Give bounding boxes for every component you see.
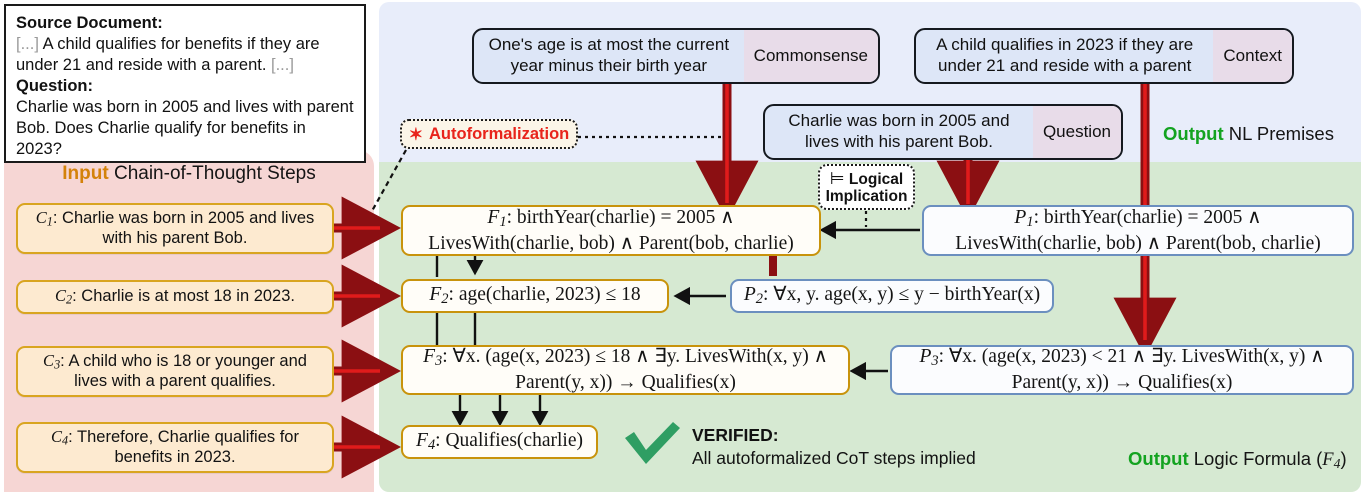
cot-step-1-text: C1: Charlie was born in 2005 and lives w… [27, 208, 323, 249]
output-nl-premises-label: Output NL Premises [1163, 123, 1334, 145]
source-document-text: [...] A child qualifies for benefits if … [16, 34, 355, 76]
cot-step-4[interactable]: C4: Therefore, Charlie qualifies for ben… [16, 422, 334, 473]
cot-step-3[interactable]: C3: A child who is 18 or younger and liv… [16, 346, 334, 397]
ellipsis-end: [...] [271, 56, 294, 74]
question-text: Charlie was born in 2005 and lives with … [16, 97, 355, 160]
input-panel-title-rest: Chain-of-Thought Steps [109, 163, 316, 184]
ellipsis-start: [...] [16, 35, 39, 53]
check-mark-icon [621, 421, 683, 467]
nl-premise-commonsense[interactable]: One's age is at most the currentyear min… [472, 28, 880, 84]
premise-P1[interactable]: P1: birthYear(charlie) = 2005 ∧LivesWith… [922, 205, 1354, 256]
logical-implication-line2: Implication [826, 188, 908, 205]
formula-F3[interactable]: F3: ∀x. (age(x, 2023) ≤ 18 ∧ ∃y. LivesWi… [401, 345, 850, 395]
formula-F2[interactable]: F2: age(charlie, 2023) ≤ 18 [401, 279, 669, 313]
verified-description: All autoformalized CoT steps implied [692, 448, 976, 468]
formula-F3-text: F3: ∀x. (age(x, 2023) ≤ 18 ∧ ∃y. LivesWi… [423, 345, 828, 395]
verified-label: VERIFIED: [692, 425, 779, 445]
formula-F1[interactable]: F1: birthYear(charlie) = 2005 ∧LivesWith… [401, 205, 821, 256]
autoformalization-annotation: ✶ Autoformalization [400, 119, 578, 149]
formula-F1-text: F1: birthYear(charlie) = 2005 ∧LivesWith… [428, 206, 793, 256]
source-document-box: Source Document: [...] A child qualifies… [4, 4, 366, 163]
nl-premise-context-tag: Context [1213, 30, 1292, 82]
nl-premise-context[interactable]: A child qualifies in 2023 if they areund… [914, 28, 1294, 84]
input-panel-title-bold: Input [62, 163, 108, 184]
autoformalization-label: Autoformalization [429, 125, 569, 144]
formula-F4-text: F4: Qualifies(charlie) [416, 429, 583, 455]
question-heading: Question: [16, 76, 355, 97]
nl-premise-commonsense-tag: Commonsense [744, 30, 878, 82]
cot-step-3-text: C3: A child who is 18 or younger and liv… [27, 351, 323, 392]
premise-P2[interactable]: P2: ∀x, y. age(x, y) ≤ y − birthYear(x) [730, 279, 1054, 313]
premise-P2-text: P2: ∀x, y. age(x, y) ≤ y − birthYear(x) [744, 283, 1040, 309]
nl-premise-question[interactable]: Charlie was born in 2005 andlives with h… [763, 104, 1123, 160]
logical-implication-line1: ⊨ Logical [830, 169, 903, 188]
nl-premise-context-text: A child qualifies in 2023 if they areund… [916, 30, 1213, 82]
source-document-heading: Source Document: [16, 13, 355, 34]
sparkle-icon: ✶ [409, 126, 423, 143]
premise-P3[interactable]: P3: ∀x. (age(x, 2023) < 21 ∧ ∃y. LivesWi… [890, 345, 1354, 395]
cot-step-2[interactable]: C2: Charlie is at most 18 in 2023. [16, 280, 334, 314]
cot-step-4-text: C4: Therefore, Charlie qualifies for ben… [27, 427, 323, 468]
cot-step-1[interactable]: C1: Charlie was born in 2005 and lives w… [16, 203, 334, 254]
nl-premise-commonsense-text: One's age is at most the currentyear min… [474, 30, 744, 82]
output-logic-formula-label: Output Logic Formula (F4) [1128, 448, 1347, 472]
cot-step-2-text: C2: Charlie is at most 18 in 2023. [55, 286, 295, 307]
verified-status: VERIFIED: All autoformalized CoT steps i… [692, 424, 1072, 470]
premise-P1-text: P1: birthYear(charlie) = 2005 ∧LivesWith… [955, 206, 1320, 256]
input-panel-title: Input Chain-of-Thought Steps [4, 163, 374, 185]
nl-premise-question-tag: Question [1033, 106, 1121, 158]
nl-premise-question-text: Charlie was born in 2005 andlives with h… [765, 106, 1033, 158]
logical-implication-annotation: ⊨ Logical Implication [818, 164, 915, 210]
entailment-icon: ⊨ [830, 169, 845, 188]
formula-F4[interactable]: F4: Qualifies(charlie) [401, 425, 598, 459]
premise-P3-text: P3: ∀x. (age(x, 2023) < 21 ∧ ∃y. LivesWi… [919, 345, 1324, 395]
formula-F2-text: F2: age(charlie, 2023) ≤ 18 [429, 283, 640, 309]
